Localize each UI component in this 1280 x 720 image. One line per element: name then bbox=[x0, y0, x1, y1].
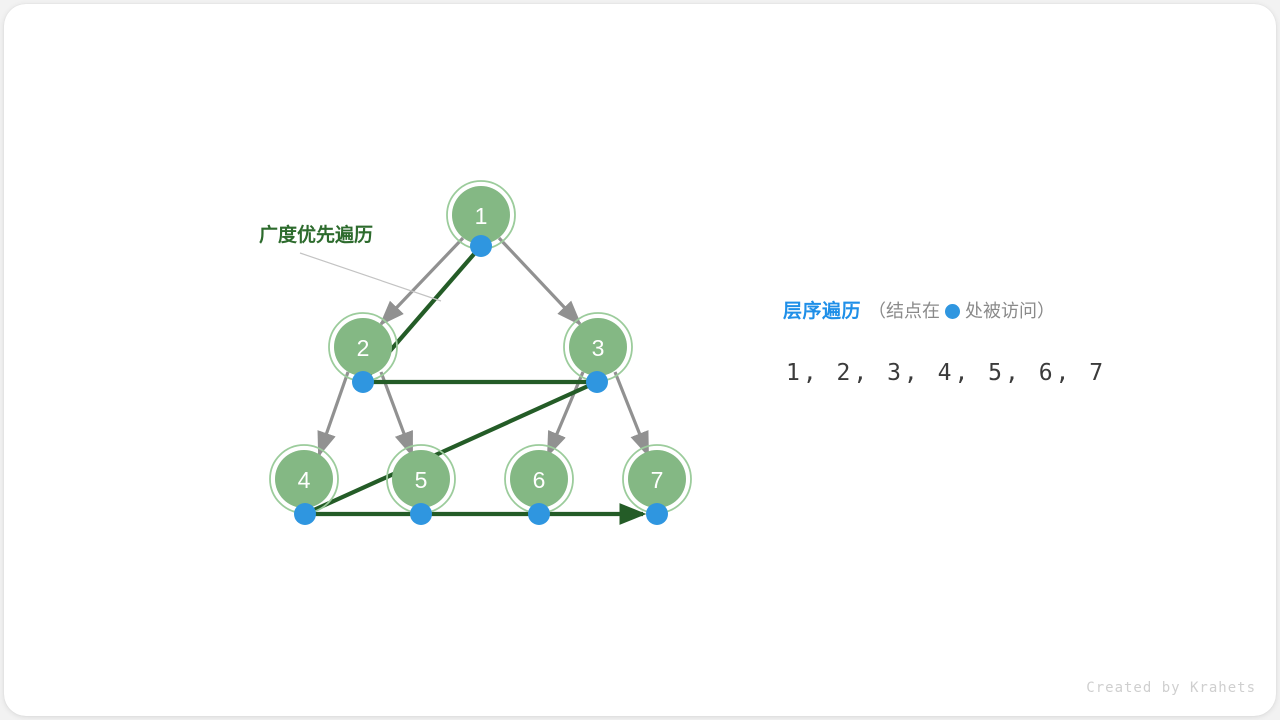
node-value: 3 bbox=[592, 335, 605, 361]
legend-note: （结点在 处被访问） bbox=[868, 301, 1055, 323]
tree-edge-n2-n4 bbox=[319, 372, 348, 455]
visit-dot-5 bbox=[410, 503, 432, 525]
node-value: 4 bbox=[298, 467, 311, 493]
legend-title-row: 层序遍历 （结点在 处被访问） bbox=[783, 300, 1203, 323]
node-value: 6 bbox=[533, 467, 546, 493]
watermark: Created by Krahets bbox=[1086, 680, 1256, 696]
node-value: 7 bbox=[651, 467, 664, 493]
legend-panel: 层序遍历 （结点在 处被访问） 1, 2, 3, 4, 5, 6, 7 bbox=[783, 300, 1203, 386]
tree-edge-n3-n6 bbox=[548, 372, 583, 455]
annotation-leader-line bbox=[300, 253, 441, 301]
node-value: 2 bbox=[357, 335, 370, 361]
bfs-label: 广度优先遍历 bbox=[259, 223, 373, 246]
tree-edge-n2-n5 bbox=[381, 372, 412, 455]
tree-node-6: 6 bbox=[505, 445, 573, 513]
legend-title: 层序遍历 bbox=[783, 300, 861, 323]
node-value: 5 bbox=[415, 467, 428, 493]
node-value: 1 bbox=[475, 203, 488, 229]
tree-edge-n1-n3 bbox=[499, 238, 580, 324]
legend-note-prefix: （结点在 bbox=[868, 301, 940, 323]
tree-edge-n3-n7 bbox=[615, 372, 648, 455]
tree-node-7: 7 bbox=[623, 445, 691, 513]
visit-dot-7 bbox=[646, 503, 668, 525]
tree-node-2: 2 bbox=[329, 313, 397, 381]
tree-node-4: 4 bbox=[270, 445, 338, 513]
visit-dot-1 bbox=[470, 235, 492, 257]
visit-dot-icon bbox=[945, 304, 960, 319]
screenshot-canvas: 1234567 广度优先遍历 层序遍历 （结点在 处被访问） 1, 2, 3, … bbox=[0, 0, 1280, 720]
visit-dot-3 bbox=[586, 371, 608, 393]
tree-node-5: 5 bbox=[387, 445, 455, 513]
tree-node-3: 3 bbox=[564, 313, 632, 381]
visit-dot-6 bbox=[528, 503, 550, 525]
visit-dot-4 bbox=[294, 503, 316, 525]
visit-dot-2 bbox=[352, 371, 374, 393]
legend-note-suffix: 处被访问） bbox=[965, 301, 1055, 323]
traversal-sequence: 1, 2, 3, 4, 5, 6, 7 bbox=[786, 360, 1203, 386]
